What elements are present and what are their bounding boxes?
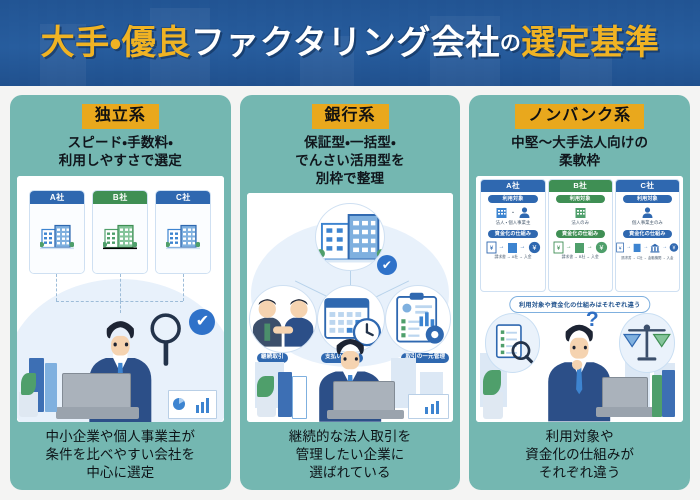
comparison-column-a-label: A社 [481,180,544,192]
magnifier-icon [145,304,186,378]
svg-text:¥: ¥ [599,245,603,252]
person-icon-a [518,206,531,219]
card-bank[interactable]: 銀行系 保証型・一括型・でんさい活用型を別枠で整理 [240,95,461,490]
company-card-b: B社 [92,190,148,274]
node-building [315,203,385,271]
comparison-column-b-label: B社 [549,180,612,192]
card-nonbank-subtitle: 中堅〜大手法人向けの柔軟枠 [511,134,648,170]
building-icon-b-svg [103,223,137,249]
arrow-b-1: → [566,244,572,250]
comparison-banner: 利用対象や資金化の仕組みはそれぞれ違う [509,296,650,313]
node-clipboard-gear [385,285,451,353]
connector-c-vertical [183,274,184,301]
node-handshake-label: 継続取引 [257,353,288,363]
comparison-c-row2-flow: 請求書 → C社 → 金融機関 → 入金 [616,255,679,260]
comparison-a-row2-flow: 請求書 → A社 → 入金 [481,255,544,260]
company-icon-a2 [507,241,518,254]
plant-pot-2 [257,394,276,417]
laptop-base-3 [596,407,654,417]
company-icon-c2 [633,241,641,254]
laptop-base-2 [327,410,403,419]
header-banner: 大手・優良 ファクタリング会社 の 選定基準 [0,0,700,86]
report-doc-2 [408,394,449,419]
report-pie-icon [171,396,187,412]
company-card-c: C社 [155,190,211,274]
page-title-segment-1: 大手・優良 [41,26,191,60]
clipboard-gear-svg [386,286,450,352]
binder-4 [292,376,306,419]
yen-circle-icon-a: ¥ [528,241,541,254]
card-independent-badge: 独立系 [82,104,159,129]
report-doc-1 [168,390,218,420]
arrow-a-2: → [520,244,526,250]
comparison-c-row2-flow-icons: ¥ → → → [616,241,679,254]
card-nonbank-badge: ノンバンク系 [515,104,644,129]
svg-text:¥: ¥ [673,245,676,251]
comparison-c-row1-icons [616,206,679,219]
comparison-a-row1-icons: ・ [481,206,544,219]
comparison-a-row1-items: 法人 ・ 個人事業主 [481,220,544,226]
comparison-b-row2-flow-icons: ¥ → → ¥ [549,241,612,254]
card-independent[interactable]: 独立系 スピード・手数料・利用しやすさで選定 A社 [10,95,231,490]
arrow-c-1: → [626,244,631,250]
card-independent-illustration: A社 [17,176,224,422]
comparison-column-b: B社 利用対象 法人のみ 資金化の仕組み ¥ [548,179,613,292]
yen-circle-icon-b: ¥ [595,241,608,254]
comparison-c-row2-label: 資金化の仕組み [623,230,672,238]
invoice-icon-a: ¥ [486,241,497,254]
binder-2 [45,363,57,412]
card-independent-caption: 中小企業や個人事業主が条件を比べやすい会社を中心に選定 [46,428,196,482]
comparison-b-row1-icons [549,206,612,219]
invoice-icon-c: ¥ [616,241,624,254]
bubble-checklist [485,313,541,372]
comparison-b-row2-flow: 請求書 → B社 → 入金 [549,255,612,260]
company-card-b-label: B社 [93,191,147,204]
card-row: 独立系 スピード・手数料・利用しやすさで選定 A社 [0,86,700,500]
card-independent-subtitle: スピード・手数料・利用しやすさで選定 [59,134,182,170]
page-title: 大手・優良 ファクタリング会社 の 選定基準 [0,0,700,86]
company-card-a: A社 [29,190,85,274]
building-node-svg [316,204,384,270]
check-badge-2: ✔ [377,255,397,275]
svg-text:¥: ¥ [619,245,622,251]
company-card-c-body [156,204,210,273]
building-icon-c [166,223,200,254]
scales-svg [620,314,674,371]
card-bank-subtitle: 保証型・一括型・でんさい活用型を別枠で整理 [295,134,405,187]
building-icon-a [40,223,74,254]
comparison-c-row1-label: 利用対象 [623,195,672,203]
infographic-root: 大手・優良 ファクタリング会社 の 選定基準 独立系 スピード・手数料・利用しや… [0,0,700,500]
corp-icon-a [495,206,508,219]
report-bar-5 [431,404,434,415]
comparison-column-a: A社 利用対象 ・ 法人 ・ 個人事業 [480,179,545,292]
invoice-icon-b: ¥ [553,241,564,254]
person-icon-c [641,206,654,219]
page-title-segment-2: ファクタリング会社 [191,26,500,60]
laptop-screen-3 [602,377,647,409]
arrow-a-1: → [499,244,505,250]
comparison-c-row1-items: 個人事業主のみ [616,220,679,226]
connector-a-vertical [56,274,57,301]
comparison-b-row1-items: 法人のみ [549,220,612,226]
card-bank-illustration: ✔ 継続取引 [247,193,454,421]
binder-3 [278,372,292,418]
report-bar-2 [201,402,204,414]
card-bank-caption: 継続的な法人取引を管理したい企業に選ばれている [289,428,411,482]
building-icon-a-svg [40,223,74,249]
card-nonbank-illustration: A社 利用対象 ・ 法人 ・ 個人事業 [476,176,683,422]
bubble-scales [619,313,675,372]
binder-5 [662,370,674,417]
comparison-column-c: C社 利用対象 個人事業主のみ 資金化の仕組み ¥ [615,179,680,292]
svg-text:¥: ¥ [532,245,536,252]
card-bank-badge: 銀行系 [312,104,389,129]
comparison-a-row2-label: 資金化の仕組み [488,230,537,238]
page-title-segment-3: の [500,33,522,54]
arrow-c-2: → [643,244,648,250]
comparison-b-row2-label: 資金化の仕組み [556,230,605,238]
report-bar-4 [425,407,428,414]
handshake-svg [250,286,316,352]
arrow-b-2: → [587,244,593,250]
binder-6 [652,375,662,417]
magnifier-svg [145,304,186,378]
corp-icon-b [574,206,587,219]
plant-leaf-3 [483,370,502,395]
plant-leaf-1 [21,373,35,395]
report-bar-6 [436,401,439,414]
company-card-a-label: A社 [30,191,84,204]
laptop-base-1 [56,407,139,419]
report-bar-1 [196,405,199,413]
node-handshake [249,285,317,353]
report-bar-3 [206,398,209,413]
plant-pot-3 [483,392,504,419]
comparison-column-c-label: C社 [616,180,679,192]
company-card-c-label: C社 [156,191,210,204]
card-nonbank-caption: 利用対象や資金化の仕組みがそれぞれ違う [525,428,634,482]
comparison-a-dot: ・ [510,208,516,217]
company-card-b-body [93,204,147,273]
company-card-a-body [30,204,84,273]
building-icon-c-svg [166,223,200,249]
arrow-c-3: → [662,244,667,250]
building-icon-b [103,223,137,254]
laptop-screen-2 [333,381,395,413]
plant-pot-1 [19,392,38,417]
yen-circle-icon-c: ¥ [669,241,679,254]
check-badge-1: ✔ [189,309,215,335]
plant-leaf-2 [257,376,274,397]
bank-icon-c [650,241,660,254]
comparison-a-row1-label: 利用対象 [488,195,537,203]
company-icon-b2 [574,241,585,254]
laptop-screen-1 [62,373,130,410]
page-title-segment-4: 選定基準 [521,26,659,60]
comparison-b-row1-label: 利用対象 [556,195,605,203]
checklist-magnifier-svg [486,314,540,371]
card-nonbank[interactable]: ノンバンク系 中堅〜大手法人向けの柔軟枠 A社 利用対象 ・ [469,95,690,490]
comparison-a-row2-flow-icons: ¥ → → ¥ [481,241,544,254]
